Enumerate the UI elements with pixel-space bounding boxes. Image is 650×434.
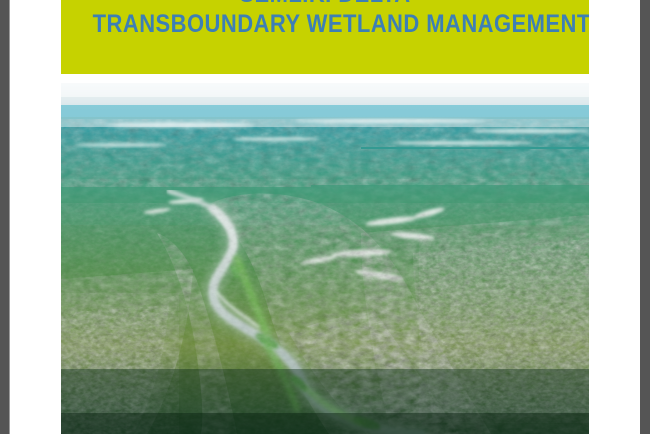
cover-title-headline: TRANSBOUNDARY WETLAND MANAGEMENT PLAN [93, 9, 558, 40]
cover-title-banner: SEMLIKI DELTA TRANSBOUNDARY WETLAND MANA… [61, 0, 589, 74]
cover-title-stack: SEMLIKI DELTA TRANSBOUNDARY WETLAND MANA… [61, 0, 589, 40]
aerial-wetland-delta-image [61, 83, 589, 434]
cover-photograph [61, 83, 589, 434]
document-page: SEMLIKI DELTA TRANSBOUNDARY WETLAND MANA… [10, 0, 640, 434]
viewer-chrome-right-bar [639, 0, 650, 434]
viewer-chrome-left-bar [0, 0, 10, 434]
document-viewer: SEMLIKI DELTA TRANSBOUNDARY WETLAND MANA… [0, 0, 650, 434]
cover-title-kicker: SEMLIKI DELTA [93, 0, 558, 9]
